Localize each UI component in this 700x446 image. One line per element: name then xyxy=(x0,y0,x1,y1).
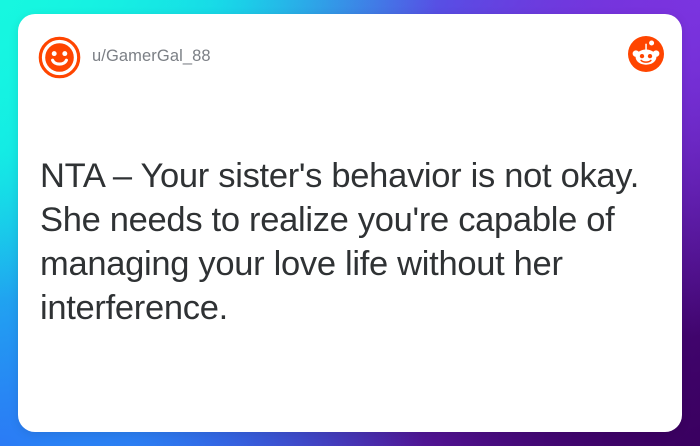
username-label: u/GamerGal_88 xyxy=(92,47,211,66)
card-header: u/GamerGal_88 xyxy=(18,14,682,106)
reddit-snoo-icon[interactable] xyxy=(628,36,664,72)
screenshot-stage: u/GamerGal_88 NTA xyxy=(0,0,700,446)
smiley-face-avatar-icon[interactable] xyxy=(37,35,82,80)
reddit-comment-card: u/GamerGal_88 NTA xyxy=(18,14,682,432)
post-body-text: NTA – Your sister's behavior is not okay… xyxy=(40,154,664,330)
